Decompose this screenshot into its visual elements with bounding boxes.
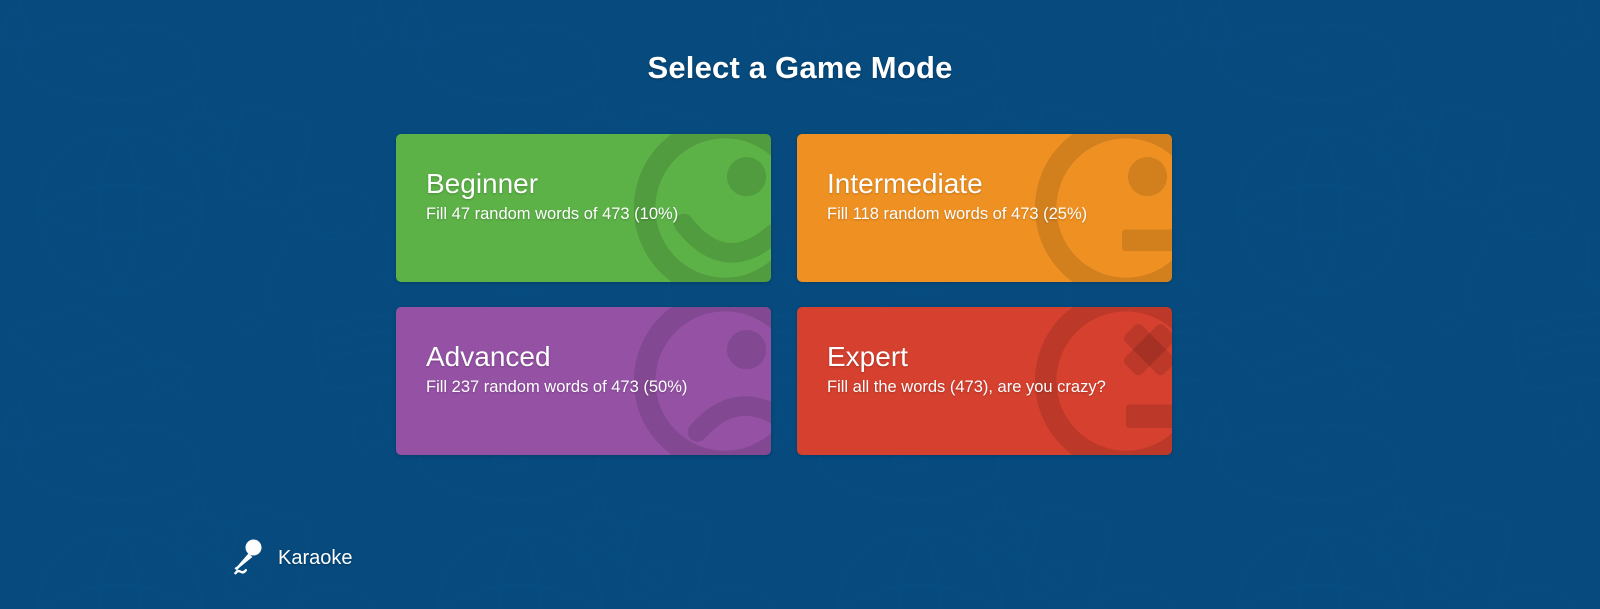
card-subtitle-expert: Fill all the words (473), are you crazy? xyxy=(827,378,1172,397)
card-text-expert: Expert Fill all the words (473), are you… xyxy=(797,307,1172,397)
microphone-icon xyxy=(230,538,264,578)
card-title-beginner: Beginner xyxy=(426,169,771,198)
game-mode-grid: Beginner Fill 47 random words of 473 (10… xyxy=(396,134,1173,455)
card-subtitle-intermediate: Fill 118 random words of 473 (25%) xyxy=(827,205,1172,224)
karaoke-label: Karaoke xyxy=(278,547,353,570)
game-mode-card-beginner[interactable]: Beginner Fill 47 random words of 473 (10… xyxy=(396,134,771,282)
card-subtitle-beginner: Fill 47 random words of 473 (10%) xyxy=(426,205,771,224)
card-title-expert: Expert xyxy=(827,342,1172,371)
card-subtitle-advanced: Fill 237 random words of 473 (50%) xyxy=(426,378,771,397)
card-text-intermediate: Intermediate Fill 118 random words of 47… xyxy=(797,134,1172,224)
card-text-advanced: Advanced Fill 237 random words of 473 (5… xyxy=(396,307,771,397)
game-mode-card-expert[interactable]: Expert Fill all the words (473), are you… xyxy=(797,307,1172,455)
card-title-advanced: Advanced xyxy=(426,342,771,371)
card-title-intermediate: Intermediate xyxy=(827,169,1172,198)
game-mode-card-advanced[interactable]: Advanced Fill 237 random words of 473 (5… xyxy=(396,307,771,455)
game-mode-card-intermediate[interactable]: Intermediate Fill 118 random words of 47… xyxy=(797,134,1172,282)
page-title: Select a Game Mode xyxy=(0,50,1600,86)
karaoke-button[interactable]: Karaoke xyxy=(230,538,353,578)
card-text-beginner: Beginner Fill 47 random words of 473 (10… xyxy=(396,134,771,224)
